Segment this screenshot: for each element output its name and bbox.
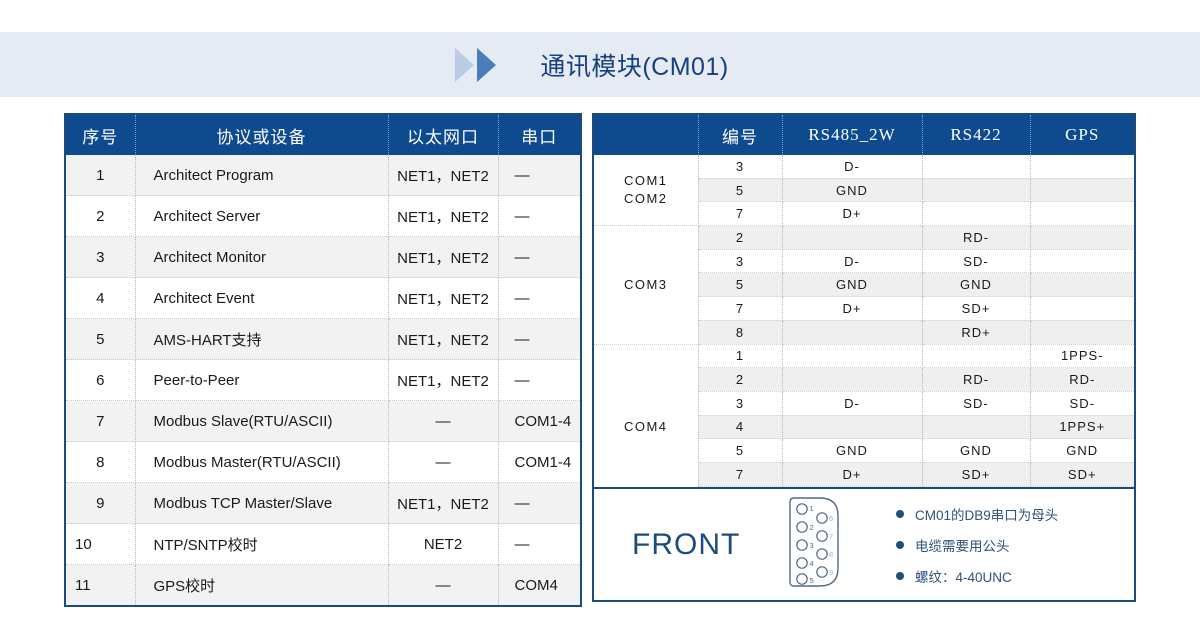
cell-com-group: COM3 bbox=[594, 226, 698, 344]
svg-text:2: 2 bbox=[810, 523, 814, 532]
svg-text:9: 9 bbox=[829, 568, 833, 577]
table-row: COM32RD- bbox=[594, 226, 1134, 250]
cell-gps bbox=[1030, 202, 1134, 226]
db9-connector-icon: 1 2 3 4 5 6 7 8 9 bbox=[784, 494, 848, 595]
cell-pin: 3 bbox=[698, 249, 782, 273]
cell-serial: COM1-4 bbox=[498, 401, 580, 442]
cell-rs485: D+ bbox=[782, 297, 922, 321]
cell-gps: SD- bbox=[1030, 391, 1134, 415]
cell-rs485 bbox=[782, 368, 922, 392]
protocol-table-body: 1Architect ProgramNET1，NET2—2Architect S… bbox=[66, 155, 580, 605]
cell-rs422: SD+ bbox=[922, 462, 1030, 486]
note-item: 电缆需要用公头 bbox=[896, 535, 1058, 555]
col-header-protocol: 协议或设备 bbox=[135, 115, 388, 155]
cell-serial: — bbox=[498, 237, 580, 278]
cell-index: 4 bbox=[66, 278, 135, 319]
cell-pin: 7 bbox=[698, 202, 782, 226]
col-header-gps: GPS bbox=[1030, 115, 1134, 155]
table-row: 7Modbus Slave(RTU/ASCII)—COM1-4 bbox=[66, 401, 580, 442]
table-row: COM1COM23D- bbox=[594, 155, 1134, 178]
table-row: 5AMS-HART支持NET1，NET2— bbox=[66, 319, 580, 360]
cell-rs485: D- bbox=[782, 391, 922, 415]
cell-rs422 bbox=[922, 415, 1030, 439]
table-row: 2Architect ServerNET1，NET2— bbox=[66, 196, 580, 237]
chevron-right-dark-icon bbox=[477, 48, 496, 82]
cell-rs422: SD- bbox=[922, 249, 1030, 273]
cell-ethernet: — bbox=[388, 442, 498, 483]
cell-protocol: Architect Server bbox=[135, 196, 388, 237]
front-label: FRONT bbox=[632, 528, 782, 562]
cell-rs485: D+ bbox=[782, 462, 922, 486]
table-row: 3Architect MonitorNET1，NET2— bbox=[66, 237, 580, 278]
pinout-table-body: COM1COM23D-5GND7D+COM32RD-3D-SD-5GNDGND7… bbox=[594, 155, 1134, 509]
cell-rs485 bbox=[782, 344, 922, 368]
svg-text:5: 5 bbox=[810, 576, 814, 585]
cell-serial: — bbox=[498, 278, 580, 319]
pinout-table-head: 编号 RS485_2W RS422 GPS bbox=[594, 115, 1134, 155]
cell-gps: RD- bbox=[1030, 368, 1134, 392]
cell-protocol: Architect Monitor bbox=[135, 237, 388, 278]
cell-index: 6 bbox=[66, 360, 135, 401]
cell-com-group: COM1COM2 bbox=[594, 155, 698, 226]
cell-index: 5 bbox=[66, 319, 135, 360]
cell-index: 8 bbox=[66, 442, 135, 483]
table-row: 1Architect ProgramNET1，NET2— bbox=[66, 155, 580, 196]
cell-pin: 5 bbox=[698, 439, 782, 463]
cell-serial: — bbox=[498, 483, 580, 524]
note-text: CM01的DB9串口为母头 bbox=[915, 504, 1058, 524]
cell-serial: — bbox=[498, 196, 580, 237]
cell-ethernet: NET1，NET2 bbox=[388, 155, 498, 196]
table-row: 11GPS校时—COM4 bbox=[66, 565, 580, 606]
cell-index: 9 bbox=[66, 483, 135, 524]
com-group-line: COM3 bbox=[594, 276, 698, 294]
cell-pin: 4 bbox=[698, 415, 782, 439]
cell-rs422 bbox=[922, 178, 1030, 202]
cell-gps bbox=[1030, 226, 1134, 250]
note-item: 螺纹：4-40UNC bbox=[896, 566, 1058, 586]
banner-content: 通讯模块(CM01) bbox=[455, 47, 728, 83]
cell-rs485 bbox=[782, 320, 922, 344]
cell-pin: 7 bbox=[698, 297, 782, 321]
cell-gps: 1PPS+ bbox=[1030, 415, 1134, 439]
cell-rs485: D+ bbox=[782, 202, 922, 226]
cell-ethernet: — bbox=[388, 401, 498, 442]
cell-pin: 1 bbox=[698, 344, 782, 368]
cell-index: 3 bbox=[66, 237, 135, 278]
cell-ethernet: NET1，NET2 bbox=[388, 278, 498, 319]
cell-rs422: RD+ bbox=[922, 320, 1030, 344]
cell-ethernet: NET2 bbox=[388, 524, 498, 565]
table-row: 9Modbus TCP Master/SlaveNET1，NET2— bbox=[66, 483, 580, 524]
protocol-table-container: 序号 协议或设备 以太网口 串口 1Architect ProgramNET1，… bbox=[64, 113, 582, 607]
cell-gps bbox=[1030, 249, 1134, 273]
cell-gps: 1PPS- bbox=[1030, 344, 1134, 368]
cell-index: 10 bbox=[66, 524, 135, 565]
cell-rs485 bbox=[782, 226, 922, 250]
cell-protocol: Architect Event bbox=[135, 278, 388, 319]
svg-text:8: 8 bbox=[829, 550, 833, 559]
com-group-line: COM4 bbox=[594, 418, 698, 436]
pinout-table: 编号 RS485_2W RS422 GPS COM1COM23D-5GND7D+… bbox=[594, 115, 1134, 510]
cell-protocol: Modbus Slave(RTU/ASCII) bbox=[135, 401, 388, 442]
svg-text:3: 3 bbox=[810, 541, 814, 550]
cell-rs422: RD- bbox=[922, 226, 1030, 250]
note-item: CM01的DB9串口为母头 bbox=[896, 504, 1058, 524]
cell-gps bbox=[1030, 155, 1134, 178]
table-row: 8Modbus Master(RTU/ASCII)—COM1-4 bbox=[66, 442, 580, 483]
cell-gps bbox=[1030, 273, 1134, 297]
table-row: 4Architect EventNET1，NET2— bbox=[66, 278, 580, 319]
cell-protocol: Modbus TCP Master/Slave bbox=[135, 483, 388, 524]
cell-rs422: SD- bbox=[922, 391, 1030, 415]
front-panel-notes: CM01的DB9串口为母头 电缆需要用公头 螺纹：4-40UNC bbox=[896, 504, 1058, 586]
note-text: 螺纹：4-40UNC bbox=[915, 566, 1012, 586]
table-row: 6Peer-to-PeerNET1，NET2— bbox=[66, 360, 580, 401]
com-group-line: COM2 bbox=[594, 190, 698, 208]
note-text: 电缆需要用公头 bbox=[915, 535, 1010, 555]
cell-pin: 5 bbox=[698, 273, 782, 297]
cell-gps bbox=[1030, 178, 1134, 202]
protocol-table: 序号 协议或设备 以太网口 串口 1Architect ProgramNET1，… bbox=[66, 115, 580, 605]
cell-protocol: NTP/SNTP校时 bbox=[135, 524, 388, 565]
cell-serial: — bbox=[498, 524, 580, 565]
cell-ethernet: NET1，NET2 bbox=[388, 360, 498, 401]
front-panel: FRONT 1 2 3 4 5 6 7 8 9 CM01的DB9串口为母头 bbox=[592, 487, 1136, 602]
cell-index: 7 bbox=[66, 401, 135, 442]
cell-rs422 bbox=[922, 202, 1030, 226]
cell-ethernet: NET1，NET2 bbox=[388, 237, 498, 278]
col-header-ethernet: 以太网口 bbox=[388, 115, 498, 155]
double-chevron-icon bbox=[455, 48, 496, 82]
cell-gps: GND bbox=[1030, 439, 1134, 463]
protocol-table-head: 序号 协议或设备 以太网口 串口 bbox=[66, 115, 580, 155]
com-group-line: COM1 bbox=[594, 172, 698, 190]
cell-pin: 8 bbox=[698, 320, 782, 344]
cell-serial: COM4 bbox=[498, 565, 580, 606]
cell-rs485: GND bbox=[782, 439, 922, 463]
col-header-rs422: RS422 bbox=[922, 115, 1030, 155]
bullet-icon bbox=[896, 541, 904, 549]
cell-rs422: RD- bbox=[922, 368, 1030, 392]
svg-text:6: 6 bbox=[829, 514, 833, 523]
cell-serial: — bbox=[498, 319, 580, 360]
svg-text:7: 7 bbox=[829, 532, 833, 541]
protocol-header-row: 序号 协议或设备 以太网口 串口 bbox=[66, 115, 580, 155]
table-row: COM411PPS- bbox=[594, 344, 1134, 368]
cell-rs485: GND bbox=[782, 273, 922, 297]
cell-serial: — bbox=[498, 360, 580, 401]
table-row: 10NTP/SNTP校时NET2— bbox=[66, 524, 580, 565]
page-title: 通讯模块(CM01) bbox=[540, 47, 728, 83]
cell-protocol: Peer-to-Peer bbox=[135, 360, 388, 401]
cell-com-group: COM4 bbox=[594, 344, 698, 509]
cell-pin: 2 bbox=[698, 226, 782, 250]
chevron-right-light-icon bbox=[455, 48, 474, 82]
cell-index: 11 bbox=[66, 565, 135, 606]
bullet-icon bbox=[896, 572, 904, 580]
cell-rs485: GND bbox=[782, 178, 922, 202]
cell-rs422 bbox=[922, 155, 1030, 178]
cell-rs422: SD+ bbox=[922, 297, 1030, 321]
cell-gps bbox=[1030, 297, 1134, 321]
col-header-rs485: RS485_2W bbox=[782, 115, 922, 155]
cell-pin: 7 bbox=[698, 462, 782, 486]
cell-rs422: GND bbox=[922, 273, 1030, 297]
cell-rs422 bbox=[922, 344, 1030, 368]
cell-index: 1 bbox=[66, 155, 135, 196]
cell-ethernet: NET1，NET2 bbox=[388, 483, 498, 524]
cell-protocol: Architect Program bbox=[135, 155, 388, 196]
col-header-serial: 串口 bbox=[498, 115, 580, 155]
page-banner: 通讯模块(CM01) bbox=[0, 32, 1200, 97]
cell-protocol: AMS-HART支持 bbox=[135, 319, 388, 360]
col-header-pin: 编号 bbox=[698, 115, 782, 155]
cell-gps bbox=[1030, 320, 1134, 344]
cell-rs485: D- bbox=[782, 155, 922, 178]
svg-text:1: 1 bbox=[810, 504, 814, 513]
cell-serial: — bbox=[498, 155, 580, 196]
cell-pin: 3 bbox=[698, 391, 782, 415]
cell-ethernet: NET1，NET2 bbox=[388, 196, 498, 237]
pinout-table-container: 编号 RS485_2W RS422 GPS COM1COM23D-5GND7D+… bbox=[592, 113, 1136, 512]
cell-rs485 bbox=[782, 415, 922, 439]
cell-serial: COM1-4 bbox=[498, 442, 580, 483]
cell-index: 2 bbox=[66, 196, 135, 237]
cell-pin: 3 bbox=[698, 155, 782, 178]
cell-gps: SD+ bbox=[1030, 462, 1134, 486]
cell-ethernet: NET1，NET2 bbox=[388, 319, 498, 360]
bullet-icon bbox=[896, 510, 904, 518]
cell-protocol: GPS校时 bbox=[135, 565, 388, 606]
pinout-header-row: 编号 RS485_2W RS422 GPS bbox=[594, 115, 1134, 155]
db9-connector-svg: 1 2 3 4 5 6 7 8 9 bbox=[784, 494, 848, 590]
cell-protocol: Modbus Master(RTU/ASCII) bbox=[135, 442, 388, 483]
svg-text:4: 4 bbox=[810, 559, 814, 568]
cell-rs422: GND bbox=[922, 439, 1030, 463]
cell-rs485: D- bbox=[782, 249, 922, 273]
cell-pin: 2 bbox=[698, 368, 782, 392]
col-header-com-blank bbox=[594, 115, 698, 155]
cell-pin: 5 bbox=[698, 178, 782, 202]
col-header-index: 序号 bbox=[66, 115, 135, 155]
cell-ethernet: — bbox=[388, 565, 498, 606]
